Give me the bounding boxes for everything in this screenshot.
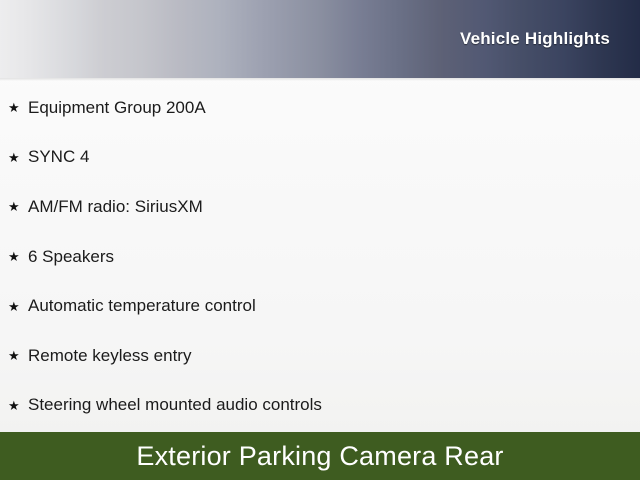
list-item: ★ Steering wheel mounted audio controls bbox=[0, 381, 640, 431]
list-item: ★ Remote keyless entry bbox=[0, 331, 640, 381]
list-item: ★ SYNC 4 bbox=[0, 133, 640, 183]
list-item: ★ Automatic temperature control bbox=[0, 281, 640, 331]
highlight-label: AM/FM radio: SiriusXM bbox=[28, 197, 640, 217]
highlight-label: Equipment Group 200A bbox=[28, 98, 640, 118]
header-divider-shadow bbox=[0, 78, 640, 81]
star-bullet-icon: ★ bbox=[8, 200, 28, 213]
highlight-label: Remote keyless entry bbox=[28, 346, 640, 366]
highlight-label: Automatic temperature control bbox=[28, 296, 640, 316]
highlights-list: ★ Equipment Group 200A ★ SYNC 4 ★ AM/FM … bbox=[0, 83, 640, 428]
footer-banner-label: Exterior Parking Camera Rear bbox=[136, 441, 503, 471]
page-title: Vehicle Highlights bbox=[460, 29, 610, 49]
star-bullet-icon: ★ bbox=[8, 300, 28, 313]
highlight-label: SYNC 4 bbox=[28, 147, 640, 167]
star-bullet-icon: ★ bbox=[8, 250, 28, 263]
star-bullet-icon: ★ bbox=[8, 349, 28, 362]
list-item: ★ 6 Speakers bbox=[0, 232, 640, 282]
list-item: ★ AM/FM radio: SiriusXM bbox=[0, 182, 640, 232]
star-bullet-icon: ★ bbox=[8, 101, 28, 114]
panel-header: Vehicle Highlights bbox=[0, 0, 640, 78]
highlight-label: Steering wheel mounted audio controls bbox=[28, 395, 640, 415]
list-item: ★ Equipment Group 200A bbox=[0, 83, 640, 133]
star-bullet-icon: ★ bbox=[8, 399, 28, 412]
footer-banner: Exterior Parking Camera Rear bbox=[0, 432, 640, 480]
highlight-label: 6 Speakers bbox=[28, 247, 640, 267]
vehicle-highlights-panel: Vehicle Highlights ★ Equipment Group 200… bbox=[0, 0, 640, 480]
star-bullet-icon: ★ bbox=[8, 151, 28, 164]
